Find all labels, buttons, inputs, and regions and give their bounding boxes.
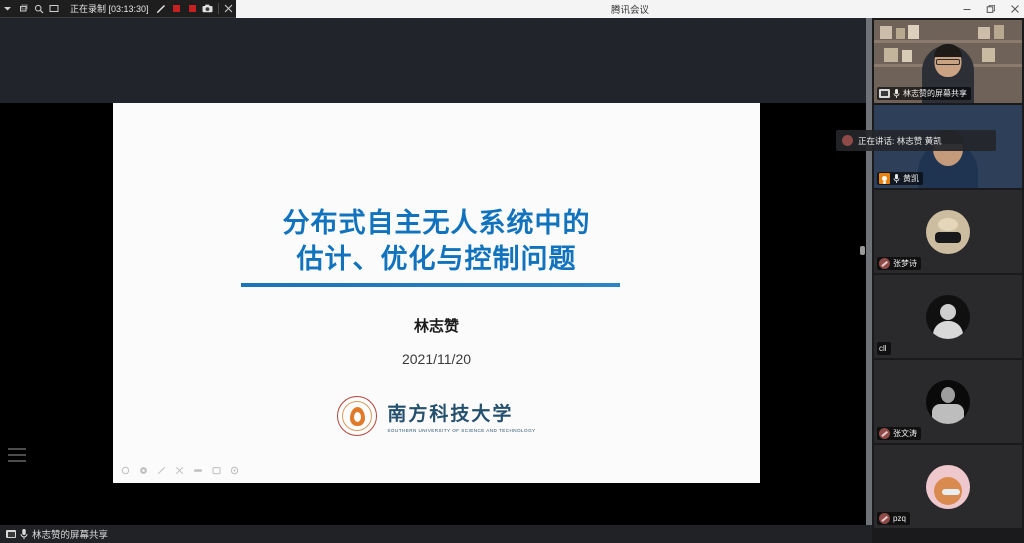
share-status-bar: 林志赞的屏幕共享 (0, 525, 872, 543)
participant-nametag: 张文涛 (877, 427, 921, 440)
avatar (926, 210, 970, 254)
shared-screen-letterbox-top (0, 18, 872, 103)
title-underline (241, 283, 620, 287)
active-speaker-text: 正在讲话: 林志赞 黄凯 (858, 135, 942, 147)
participant-nametag: 林志赞的屏幕共享 (877, 87, 971, 100)
camera-icon[interactable] (200, 0, 216, 18)
participant-name: 张梦诗 (893, 258, 917, 269)
recording-status-label: 正在录制 [03:13:30] (62, 2, 154, 15)
university-name-cn: 南方科技大学 (387, 399, 535, 426)
close-icon[interactable] (221, 0, 237, 18)
participant-tile-zhangmengshi[interactable]: 张梦诗 (874, 190, 1022, 273)
slide-annotation-toolbar (121, 466, 239, 475)
participant-name: 黄凯 (903, 173, 919, 184)
microphone-icon (893, 174, 900, 184)
screen-share-icon (6, 530, 16, 538)
close-button[interactable] (1010, 4, 1020, 14)
microphone-icon (893, 89, 900, 99)
speaker-icon (842, 135, 853, 146)
avatar (926, 380, 970, 424)
window-controls (962, 0, 1020, 18)
screen-recorder-toolbar: 正在录制 [03:13:30] (0, 0, 236, 18)
participant-rail[interactable]: 林志赞的屏幕共享 黄凯 张梦诗 (872, 18, 1024, 543)
meeting-body: 分布式自主无人系统中的 估计、优化与控制问题 林志赞 2021/11/20 南方… (0, 18, 1024, 543)
microphone-icon (20, 529, 28, 540)
participant-tile-pzq[interactable]: pzq (874, 445, 1022, 528)
presentation-slide: 分布式自主无人系统中的 估计、优化与控制问题 林志赞 2021/11/20 南方… (113, 103, 760, 483)
participant-name: cll (879, 344, 887, 353)
pointer-icon[interactable] (121, 466, 130, 475)
window-icon[interactable] (16, 0, 32, 18)
screen-share-icon (879, 89, 890, 98)
window-title: 腾讯会议 (611, 2, 649, 16)
participant-name: 林志赞的屏幕共享 (903, 88, 967, 99)
participant-tile-cll[interactable]: cll (874, 275, 1022, 358)
more-icon[interactable] (230, 466, 239, 475)
participant-nametag: cll (877, 342, 891, 355)
pen-icon[interactable] (157, 466, 166, 475)
mic-muted-icon (879, 428, 890, 439)
slide-title-line2: 估计、优化与控制问题 (113, 242, 760, 278)
shared-screen-stage[interactable]: 分布式自主无人系统中的 估计、优化与控制问题 林志赞 2021/11/20 南方… (0, 18, 872, 543)
active-speaker-toast: 正在讲话: 林志赞 黄凯 (836, 130, 996, 151)
university-seal-icon (337, 396, 377, 436)
participant-name: pzq (893, 514, 906, 523)
university-logo-text: 南方科技大学 SOUTHERN UNIVERSITY OF SCIENCE AN… (387, 399, 535, 433)
participant-nametag: 黄凯 (877, 172, 923, 185)
university-logo: 南方科技大学 SOUTHERN UNIVERSITY OF SCIENCE AN… (113, 396, 760, 436)
mic-muted-icon (879, 513, 890, 524)
tencent-meeting-window: 正在录制 [03:13:30] 腾讯会议 (0, 0, 1024, 543)
eraser-icon[interactable] (193, 466, 203, 475)
magnifier-icon[interactable] (31, 0, 47, 18)
mic-muted-icon (879, 258, 890, 269)
avatar (926, 465, 970, 509)
avatar (926, 295, 970, 339)
slide-title-line1: 分布式自主无人系统中的 (113, 206, 760, 242)
caret-down-icon[interactable] (0, 0, 16, 18)
participant-nametag: 张梦诗 (877, 257, 921, 270)
pencil-icon[interactable] (154, 0, 170, 18)
university-name-en: SOUTHERN UNIVERSITY OF SCIENCE AND TECHN… (387, 428, 535, 433)
window-titlebar: 腾讯会议 (236, 0, 1024, 18)
settings-icon[interactable] (139, 466, 148, 475)
pause-record-icon[interactable] (185, 0, 201, 18)
participant-nametag: pzq (877, 512, 910, 525)
participant-tile-zhangwentao[interactable]: 张文涛 (874, 360, 1022, 443)
maximize-button[interactable] (986, 4, 996, 14)
slide-title: 分布式自主无人系统中的 估计、优化与控制问题 (113, 206, 760, 277)
host-badge-icon (879, 173, 890, 184)
slide-date: 2021/11/20 (113, 351, 760, 367)
participant-tile-screen-share[interactable]: 林志赞的屏幕共享 (874, 20, 1022, 103)
participant-name: 张文涛 (893, 428, 917, 439)
note-icon[interactable] (212, 466, 221, 475)
share-status-label: 林志赞的屏幕共享 (32, 527, 108, 541)
stop-record-icon[interactable] (169, 0, 185, 18)
panel-collapse-handle[interactable] (860, 246, 865, 255)
region-select-icon[interactable] (47, 0, 63, 18)
menu-icon[interactable] (8, 448, 26, 462)
minimize-button[interactable] (962, 4, 972, 14)
close-annotation-icon[interactable] (175, 466, 184, 475)
slide-author: 林志赞 (113, 315, 760, 336)
